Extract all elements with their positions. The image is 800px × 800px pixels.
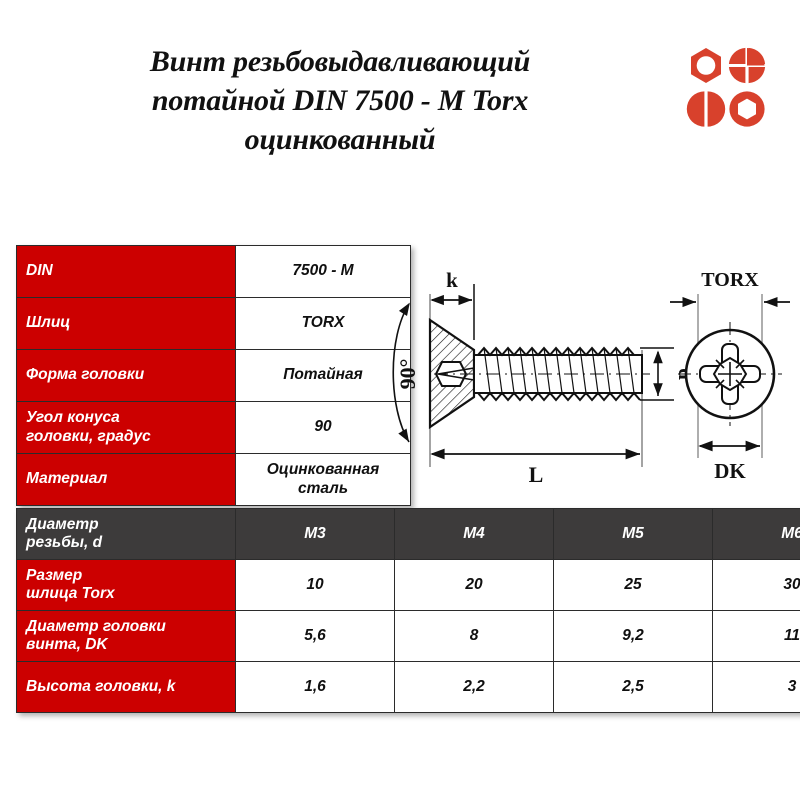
straight-slot-icon — [687, 91, 725, 126]
page-title-line-2: потайной DIN 7500 - M Torx — [40, 81, 640, 120]
page-title-line-1: Винт резьбовыдавливающий — [40, 42, 640, 81]
sizes-header-m5: M5 — [554, 509, 713, 560]
table-row: DIN 7500 - M — [17, 246, 411, 298]
spec-label-material: Материал — [17, 454, 236, 506]
page-title: Винт резьбовыдавливающий потайной DIN 75… — [40, 42, 640, 159]
cross-slot-icon — [729, 48, 765, 83]
specification-table: DIN 7500 - M Шлиц TORX Форма головки Пот… — [16, 245, 411, 506]
hex-socket-icon — [729, 91, 764, 126]
sizes-header-label: Диаметррезьбы, d — [17, 509, 236, 560]
screw-head-end-view: TORX — [670, 269, 790, 483]
thread-profile-bottom — [478, 393, 640, 400]
sizes-label-torx-size: Размершлица Torx — [17, 560, 236, 611]
cone-angle-label: 90° — [395, 359, 420, 390]
sizes-header-m3: M3 — [236, 509, 395, 560]
torx-label: TORX — [701, 269, 759, 291]
spec-label-cone-angle: Угол конусаголовки, градус — [17, 402, 236, 454]
sizes-table: Диаметррезьбы, d M3 M4 M5 M6 Размершлица… — [16, 508, 800, 713]
hex-nut-icon — [691, 48, 721, 83]
sizes-label-head-diameter: Диаметр головкивинта, DK — [17, 611, 236, 662]
dk-label: DK — [714, 459, 746, 483]
sizes-cell-dk-m4: 8 — [395, 611, 554, 662]
sizes-cell-k-m6: 3 — [713, 662, 800, 713]
sizes-cell-torx-m6: 30 — [713, 560, 800, 611]
technical-drawing: 90° k — [382, 262, 792, 494]
sizes-cell-dk-m5: 9,2 — [554, 611, 713, 662]
specification-table-body: DIN 7500 - M Шлиц TORX Форма головки Пот… — [17, 246, 411, 506]
sizes-label-head-height: Высота головки, k — [17, 662, 236, 713]
table-row: Форма головки Потайная — [17, 350, 411, 402]
sizes-cell-dk-m6: 11 — [713, 611, 800, 662]
page-title-line-3: оцинкованный — [40, 120, 640, 159]
countersunk-screw-side-view: 90° k — [393, 268, 698, 487]
sizes-cell-torx-m5: 25 — [554, 560, 713, 611]
spec-label-din: DIN — [17, 246, 236, 298]
sizes-header-m4: M4 — [395, 509, 554, 560]
sizes-cell-torx-m4: 20 — [395, 560, 554, 611]
k-label: k — [446, 268, 458, 292]
sizes-cell-k-m5: 2,5 — [554, 662, 713, 713]
header: Винт резьбовыдавливающий потайной DIN 75… — [0, 0, 800, 200]
table-row: Шлиц TORX — [17, 298, 411, 350]
table-row: Диаметр головкивинта, DK 5,6 8 9,2 11 — [17, 611, 800, 662]
table-header-row: Диаметррезьбы, d M3 M4 M5 M6 — [17, 509, 800, 560]
sizes-cell-torx-m3: 10 — [236, 560, 395, 611]
sizes-header-m6: M6 — [713, 509, 800, 560]
sizes-table-body: Диаметррезьбы, d M3 M4 M5 M6 Размершлица… — [17, 509, 800, 713]
L-label: L — [529, 462, 544, 487]
sizes-cell-k-m4: 2,2 — [395, 662, 554, 713]
spec-label-shlits: Шлиц — [17, 298, 236, 350]
torx-drive-star — [716, 360, 744, 388]
sizes-cell-dk-m3: 5,6 — [236, 611, 395, 662]
table-row: Высота головки, k 1,6 2,2 2,5 3 — [17, 662, 800, 713]
sizes-cell-k-m3: 1,6 — [236, 662, 395, 713]
spec-label-head-form: Форма головки — [17, 350, 236, 402]
table-row: Материал Оцинкованнаясталь — [17, 454, 411, 506]
fastener-logo — [686, 46, 768, 128]
table-row: Размершлица Torx 10 20 25 30 — [17, 560, 800, 611]
table-row: Угол конусаголовки, градус 90 — [17, 402, 411, 454]
